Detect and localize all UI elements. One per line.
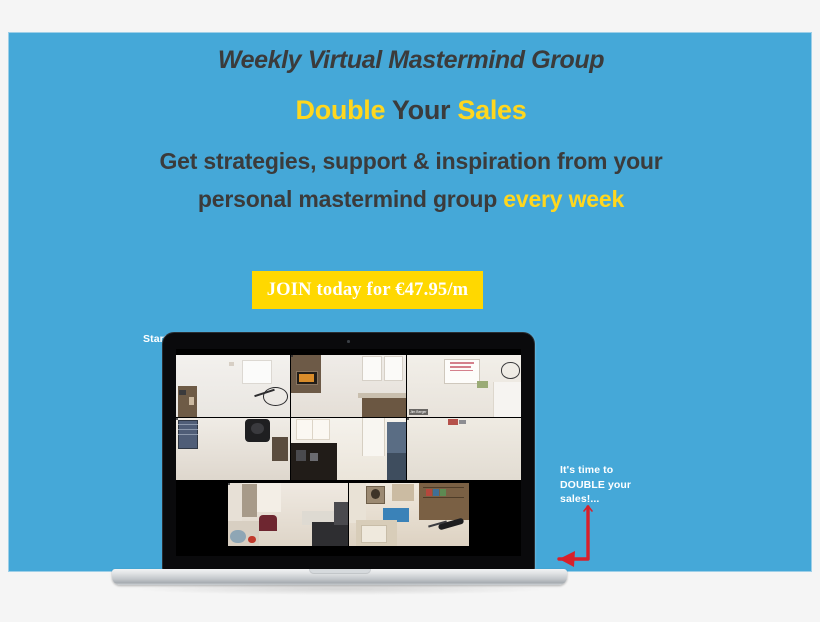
participant-name-label: Jim Berger xyxy=(409,409,428,415)
subheadline-line-2: personal mastermind group every week xyxy=(9,180,813,218)
laptop-base-notch xyxy=(309,569,371,574)
video-tile-participant-5[interactable] xyxy=(291,418,405,480)
laptop-shadow xyxy=(136,583,546,595)
page-root: Weekly Virtual Mastermind Group Double Y… xyxy=(0,0,820,622)
video-tile-participant-8[interactable] xyxy=(349,483,469,546)
double-sales-line-1: It's time to xyxy=(560,463,650,478)
video-tile-participant-1[interactable] xyxy=(176,355,290,417)
laptop-lid: Jim Berger xyxy=(163,333,534,571)
double-sales-annotation: It's time to DOUBLE your sales!... xyxy=(560,463,650,507)
video-conference-grid: Jim Berger xyxy=(176,349,521,556)
video-grid-row: Jim Berger xyxy=(176,355,521,417)
subheadline-accent: every week xyxy=(503,186,624,212)
video-grid-row xyxy=(228,483,469,546)
video-tile-participant-2[interactable] xyxy=(291,355,405,417)
eyebrow-heading: Weekly Virtual Mastermind Group xyxy=(9,43,813,77)
headline-word-your: Your xyxy=(385,95,457,125)
laptop-screen: Jim Berger xyxy=(176,349,521,556)
video-grid-row xyxy=(176,418,521,480)
headline-block: Weekly Virtual Mastermind Group Double Y… xyxy=(9,33,813,218)
video-tile-participant-4[interactable] xyxy=(176,418,290,480)
double-sales-line-2: DOUBLE your xyxy=(560,478,650,493)
video-tile-participant-7[interactable] xyxy=(228,483,348,546)
laptop-mockup: Jim Berger xyxy=(112,333,567,593)
video-tile-participant-6[interactable] xyxy=(407,418,521,480)
headline-word-sales: Sales xyxy=(457,95,526,125)
webcam-icon xyxy=(347,340,350,343)
subheadline: Get strategies, support & inspiration fr… xyxy=(9,142,813,218)
subheadline-line-2-plain: personal mastermind group xyxy=(198,186,503,212)
headline-word-double: Double xyxy=(296,95,386,125)
page-title: Double Your Sales xyxy=(9,94,813,126)
join-cta-button[interactable]: JOIN today for €47.95/m xyxy=(252,271,483,309)
video-tile-participant-3[interactable]: Jim Berger xyxy=(407,355,521,417)
double-sales-line-3: sales!... xyxy=(560,492,650,507)
subheadline-line-1: Get strategies, support & inspiration fr… xyxy=(9,142,813,180)
